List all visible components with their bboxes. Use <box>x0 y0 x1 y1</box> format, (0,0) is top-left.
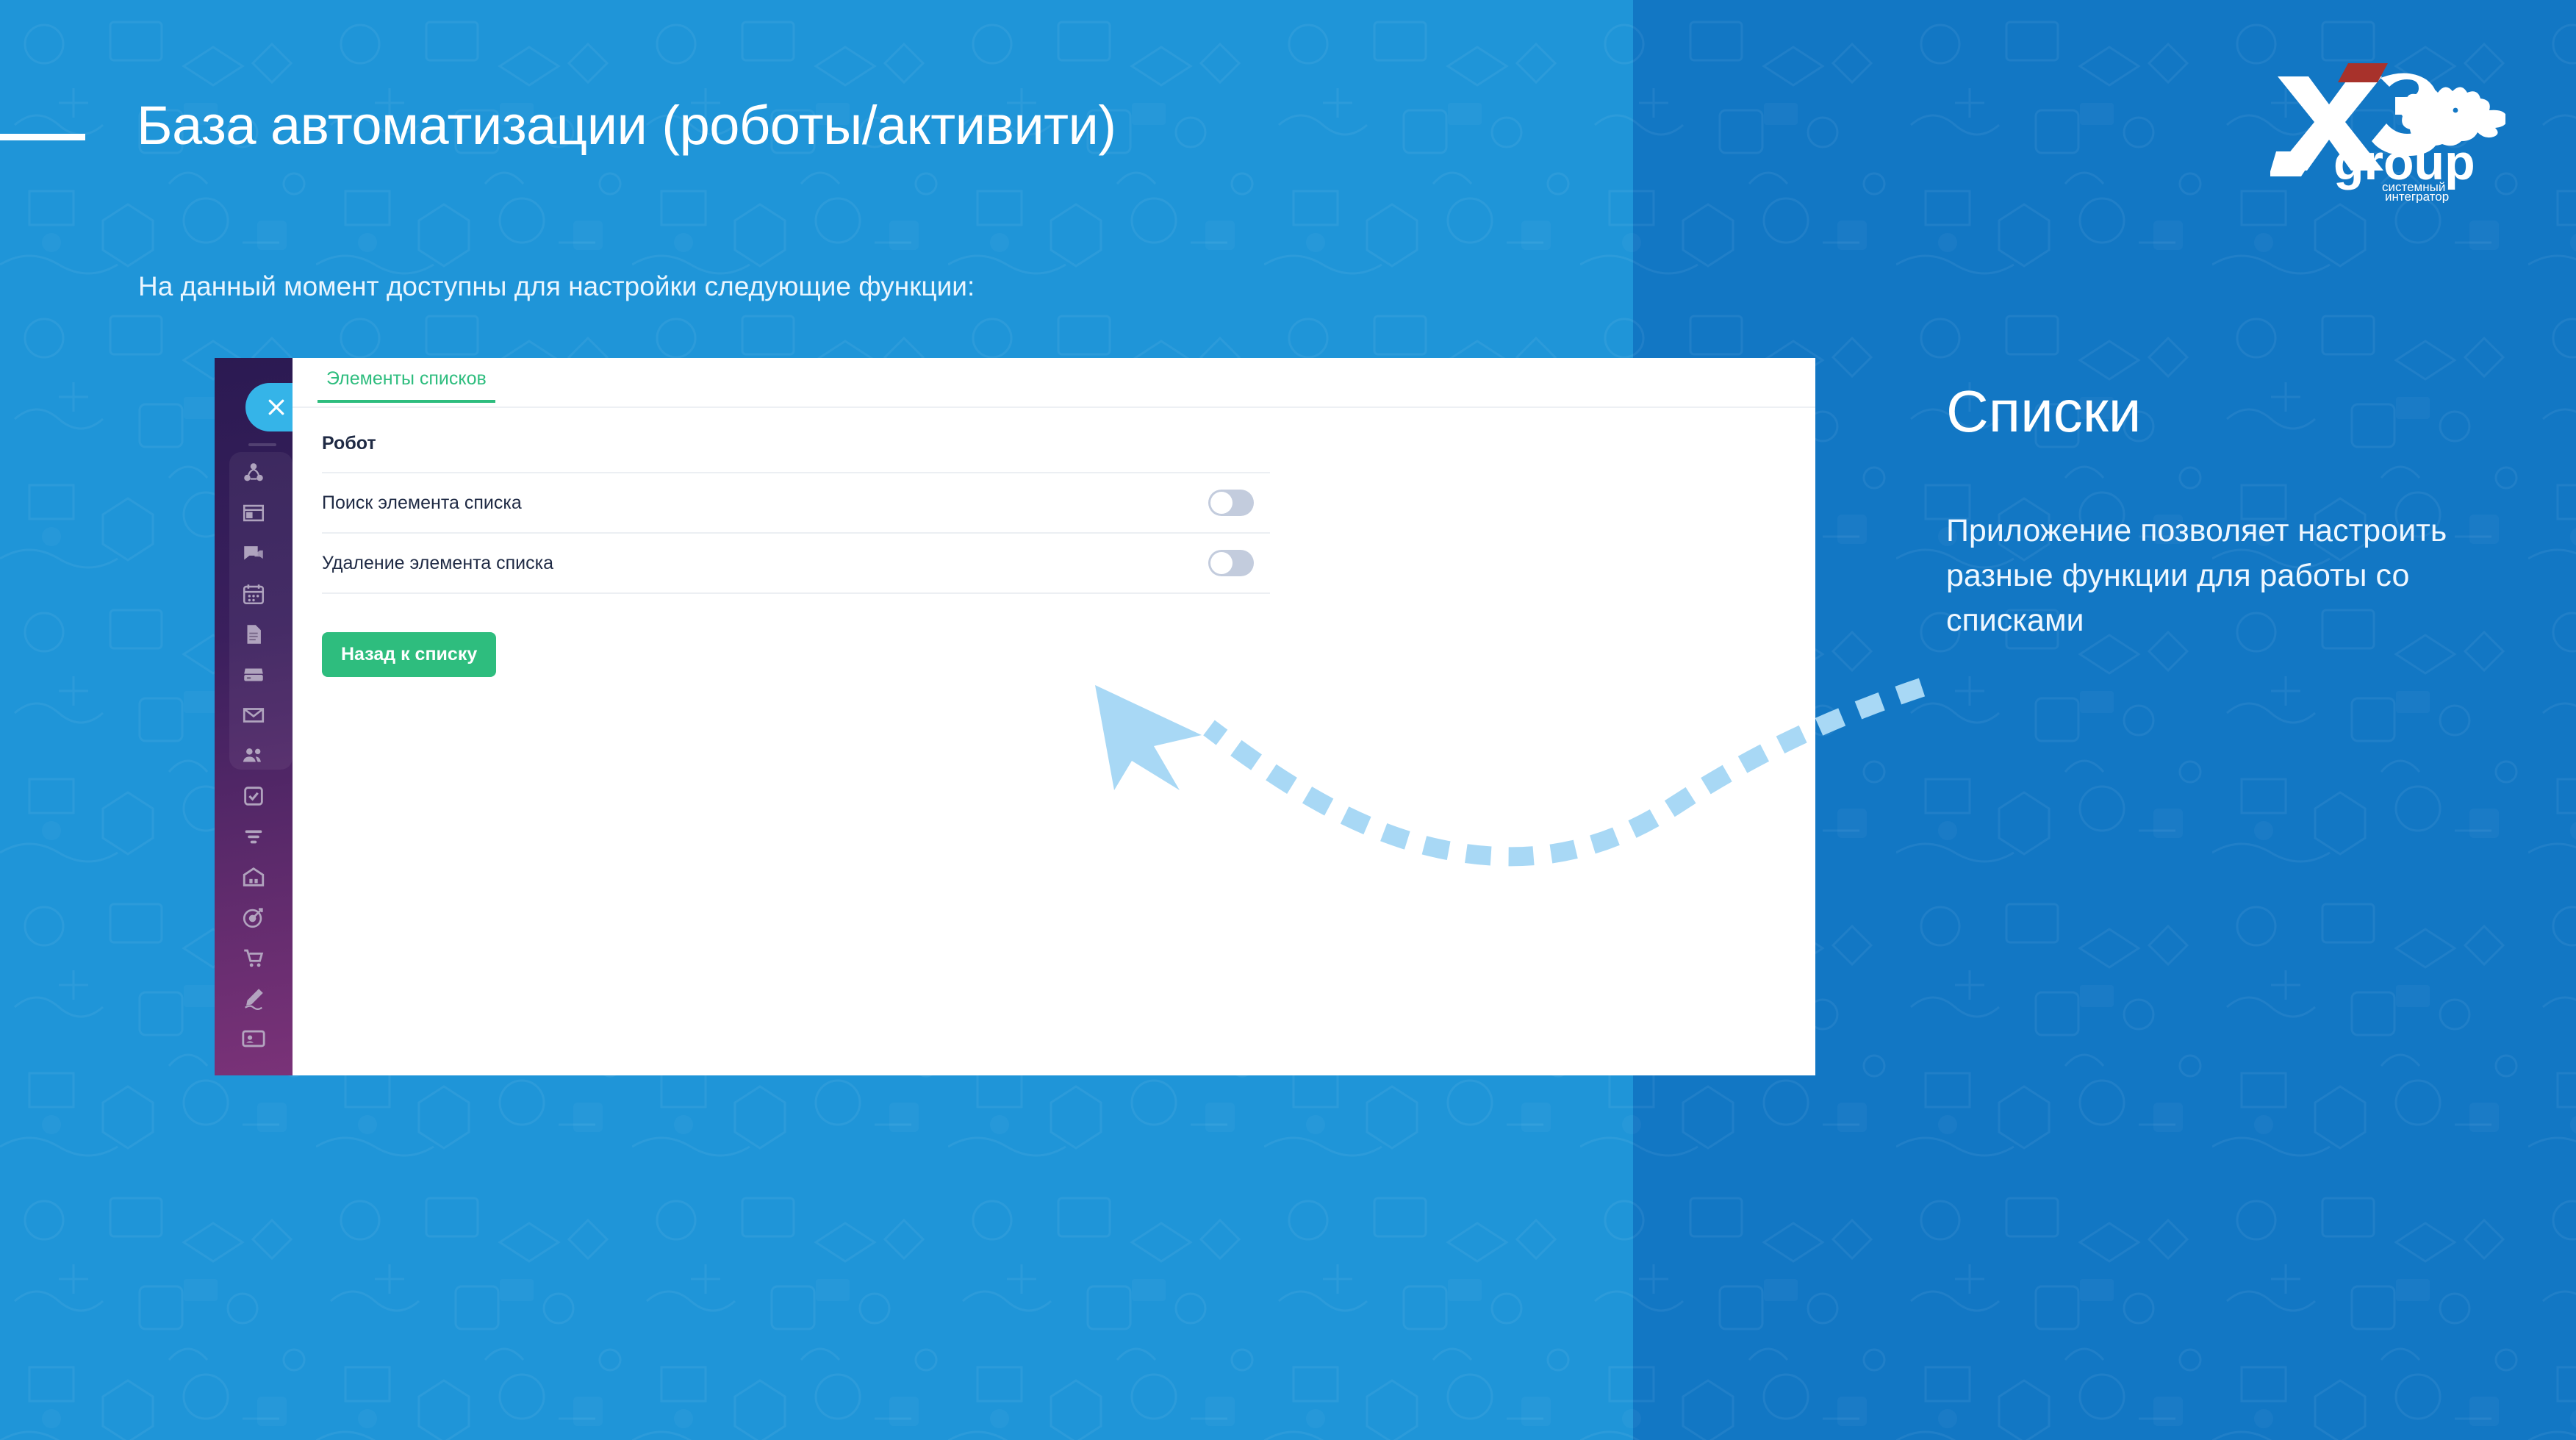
right-column: Списки Приложение позволяет настроить ра… <box>1946 382 2505 643</box>
section-title-robot: Робот <box>322 433 1815 472</box>
chat-icon <box>241 541 266 566</box>
sidebar-item-funnel[interactable] <box>215 816 293 856</box>
table-row[interactable]: Удаление элемента списка <box>322 534 1270 594</box>
sidebar-divider <box>248 443 276 446</box>
cart-icon <box>241 945 266 970</box>
page-title: База автоматизации (роботы/активити) <box>137 94 1607 157</box>
right-column-title: Списки <box>1946 382 2505 441</box>
drive-icon <box>241 662 266 687</box>
app-sidebar <box>215 358 293 1075</box>
target-icon <box>241 905 266 930</box>
tab-bar: Элементы списков <box>293 358 1815 408</box>
task-check-icon <box>241 784 266 809</box>
sidebar-item-mail[interactable] <box>215 695 293 735</box>
sidebar-item-calendar[interactable] <box>215 573 293 614</box>
top-left-accent-line <box>0 134 85 140</box>
users-icon <box>241 743 266 768</box>
right-column-body: Приложение позволяет настроить разные фу… <box>1946 509 2505 643</box>
app-main-area: Элементы списков Робот Поиск элемента сп… <box>293 358 1815 1075</box>
toggle-search-list-item[interactable] <box>1208 490 1254 516</box>
calendar-icon <box>241 581 266 606</box>
sidebar-item-browser[interactable] <box>215 492 293 533</box>
row-label-delete-list-item: Удаление элемента списка <box>322 553 553 574</box>
warehouse-icon <box>241 864 266 889</box>
network-icon <box>241 460 266 485</box>
contact-card-icon <box>241 1026 266 1051</box>
sidebar-item-tasks[interactable] <box>215 775 293 816</box>
sidebar-item-cart[interactable] <box>215 937 293 978</box>
table-row[interactable]: Поиск элемента списка <box>322 473 1270 534</box>
toggle-knob <box>1210 552 1233 574</box>
funnel-icon <box>241 824 266 849</box>
page-subtitle: На данный момент доступны для настройки … <box>138 269 1535 304</box>
row-label-search-list-item: Поиск элемента списка <box>322 492 522 514</box>
sidebar-item-warehouse[interactable] <box>215 856 293 897</box>
sidebar-item-signature[interactable] <box>215 978 293 1018</box>
sidebar-icon-list <box>215 452 293 1058</box>
logo-tagline-2: интегратор <box>2385 190 2449 203</box>
logo-graphic: group системный интегратор <box>2270 49 2505 203</box>
sign-pen-icon <box>241 986 266 1011</box>
sidebar-item-network[interactable] <box>215 452 293 492</box>
sidebar-item-documents[interactable] <box>215 614 293 654</box>
sidebar-item-drive[interactable] <box>215 654 293 695</box>
tab-list-elements[interactable]: Элементы списков <box>317 358 495 401</box>
back-to-list-button[interactable]: Назад к списку <box>322 632 496 677</box>
sidebar-item-contacts[interactable] <box>215 1018 293 1058</box>
app-screenshot-card: Элементы списков Робот Поиск элемента сп… <box>215 358 1815 1075</box>
x3group-logo: group системный интегратор <box>2270 49 2505 203</box>
close-icon <box>265 396 287 418</box>
sidebar-item-users[interactable] <box>215 735 293 775</box>
toggle-knob <box>1210 492 1233 514</box>
toggle-delete-list-item[interactable] <box>1208 550 1254 576</box>
document-icon <box>241 622 266 647</box>
app-content: Робот Поиск элемента списка Удаление эле… <box>293 408 1815 677</box>
sidebar-item-chat[interactable] <box>215 533 293 573</box>
slide: База автоматизации (роботы/активити) На … <box>0 0 2576 1440</box>
mail-icon <box>241 703 266 728</box>
browser-icon <box>241 501 266 526</box>
logo-accent-mark <box>2338 63 2388 82</box>
sidebar-item-target[interactable] <box>215 897 293 937</box>
